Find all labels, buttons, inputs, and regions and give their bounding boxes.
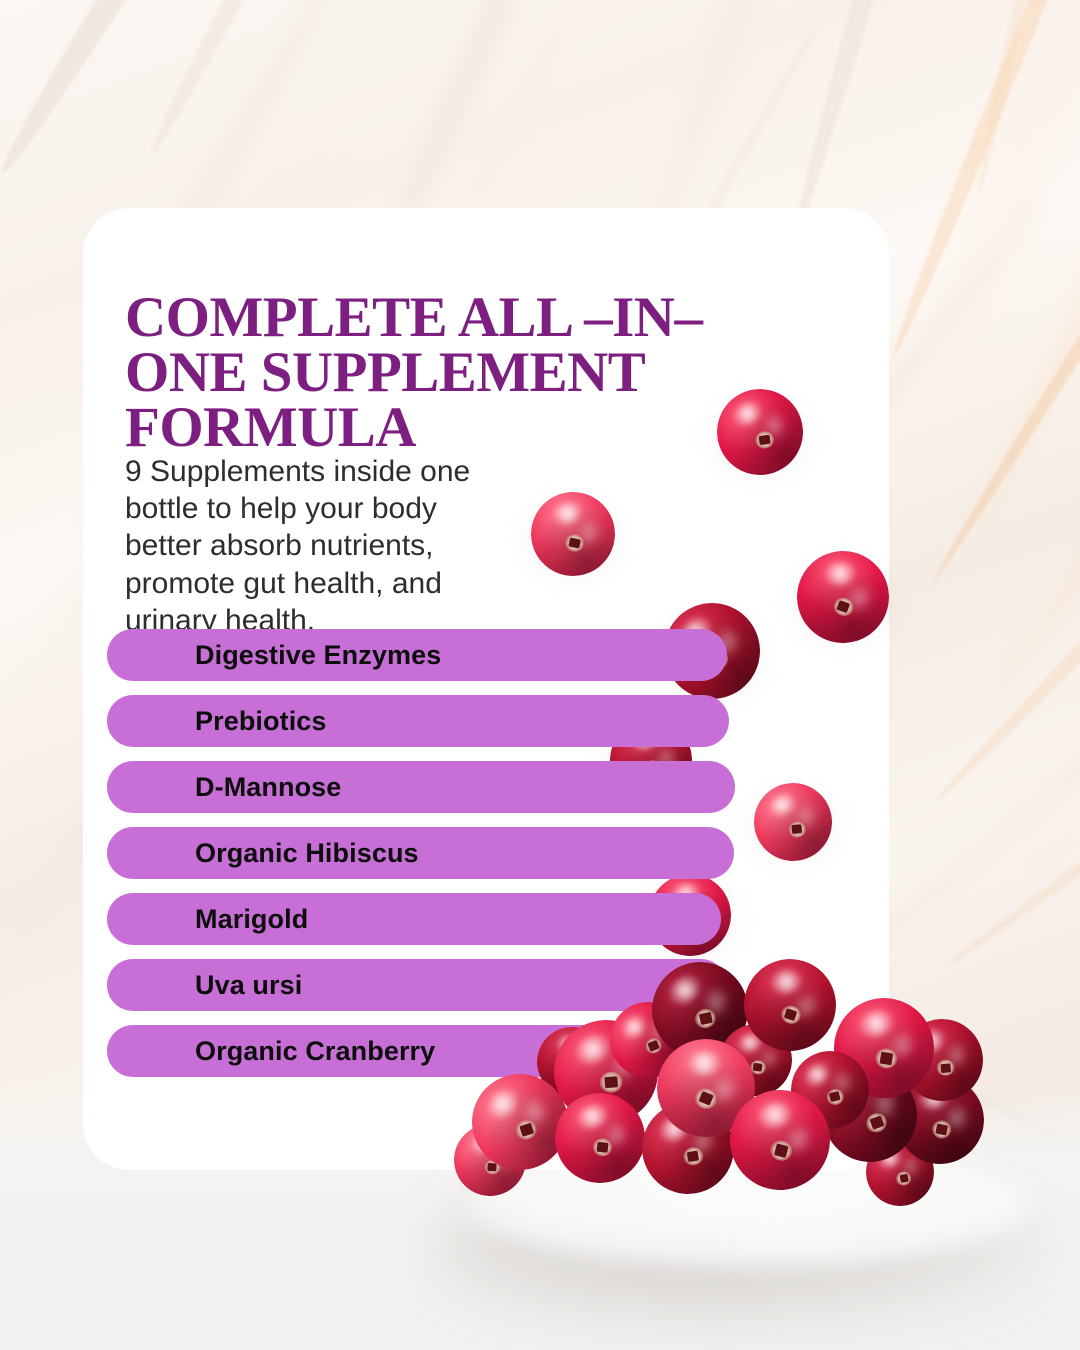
cranberry-calyx-center [829,1091,840,1102]
cranberry-calyx-center [784,1008,798,1021]
cranberry-pile [0,0,1080,1350]
cranberry-calyx-center [699,1012,713,1025]
cranberry-calyx-center [869,1116,883,1130]
cranberry-calyx-center [879,1052,893,1065]
cranberry-calyx-center [597,1142,609,1153]
cranberry-calyx-center [935,1123,948,1135]
cranberry-calyx-center [698,1091,713,1106]
cranberry-calyx-center [648,1040,660,1051]
cranberry-calyx-center [941,1063,952,1073]
cranberry-calyx-center [488,1163,497,1172]
cranberry-calyx-center [604,1076,618,1089]
cranberry-calyx-center [753,1063,763,1072]
cranberry-calyx-center [519,1123,534,1137]
cranberry-calyx-center [774,1144,789,1158]
cranberry-calyx-center [687,1151,700,1163]
cranberry-calyx-center [899,1174,909,1183]
